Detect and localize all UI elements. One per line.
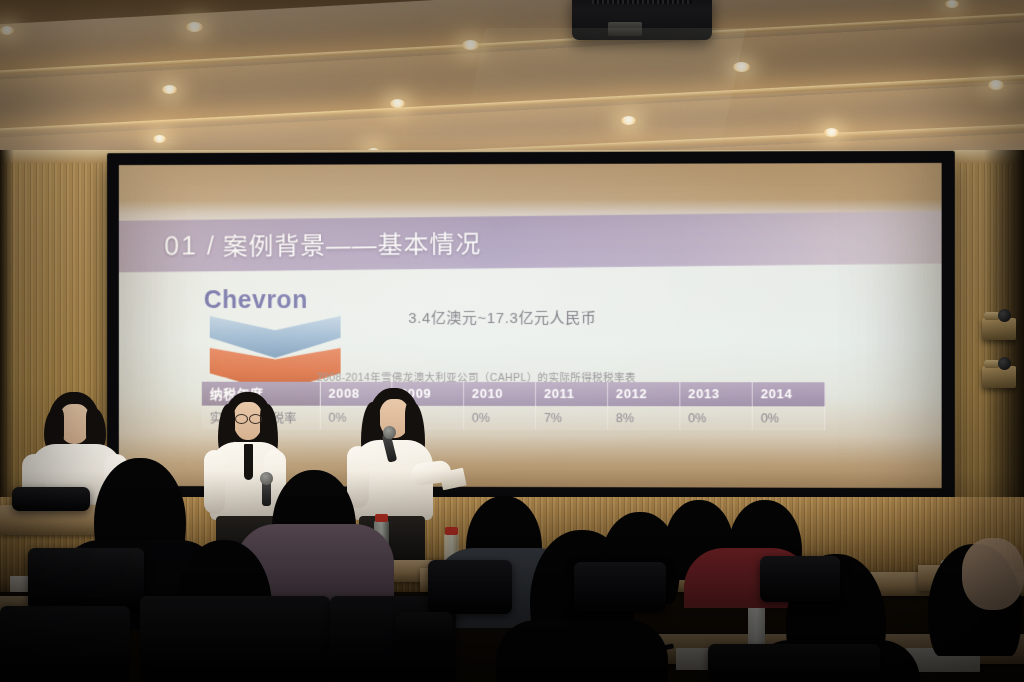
ceiling-projector [572, 0, 712, 40]
chair-back [708, 644, 880, 682]
table-header-year-3: 2011 [535, 382, 607, 406]
table-cell-rate-4: 8% [607, 406, 679, 430]
ceiling-downlight [824, 128, 839, 137]
slide-title-text: 案例背景——基本情况 [223, 225, 481, 264]
ceiling-downlight [390, 99, 405, 108]
ceiling-downlight [153, 135, 166, 143]
projector-lens [608, 22, 642, 36]
table-cell-rate-3: 7% [535, 406, 607, 430]
ceiling-downlight [621, 116, 636, 125]
glasses-icon [235, 414, 248, 424]
chair-back [28, 548, 144, 610]
chair-back [428, 560, 512, 614]
projector-vents [592, 0, 692, 4]
ceiling-downlight [186, 22, 203, 32]
wall-speaker-lower [982, 366, 1016, 388]
bottle-cap [375, 514, 388, 522]
table-cell-rate-5: 0% [680, 406, 752, 430]
table-header-year-2: 2010 [463, 382, 535, 406]
chair-back [760, 556, 840, 602]
table-cell-rate-6: 0% [752, 406, 825, 430]
chevron-wordmark: Chevron [204, 286, 351, 315]
slide-amount-note: 3.4亿澳元~17.3亿元人民币 [408, 307, 596, 328]
ceiling-downlight [0, 26, 14, 35]
audience-shoulders [496, 620, 668, 682]
chair-back [140, 596, 330, 682]
table-header-year-5: 2013 [680, 382, 752, 406]
chair-back [0, 606, 130, 682]
chair-back [574, 562, 666, 612]
ceiling-downlight [945, 0, 959, 8]
ceiling-downlight [162, 85, 177, 94]
presenter-necktie [244, 444, 253, 480]
table-header-year-6: 2014 [752, 382, 825, 406]
audience-head [962, 538, 1024, 610]
ceiling-downlight [988, 80, 1004, 90]
slide-title-separator: / [207, 230, 214, 261]
chair-back [396, 612, 452, 652]
slide-section-number: 01 [164, 230, 198, 261]
microphone-head [383, 426, 396, 439]
presenter-arm-left [204, 450, 225, 514]
ceiling-downlight [733, 62, 750, 72]
podium-monitor [12, 487, 90, 511]
ceiling-downlight [462, 40, 479, 50]
table-header-year-4: 2012 [607, 382, 679, 406]
slide-title: 01 / 案例背景——基本情况 [164, 221, 481, 268]
conference-room-photo: 01 / 案例背景——基本情况 Chevron 3.4亿澳元~17.3亿元人民币… [0, 0, 1024, 682]
ceiling [0, 0, 1024, 175]
wall-speaker-upper [982, 318, 1016, 340]
bottle-cap [445, 527, 458, 535]
microphone-head [260, 472, 273, 485]
glasses-icon [249, 414, 262, 424]
table-cell-rate-2: 0% [463, 406, 535, 430]
